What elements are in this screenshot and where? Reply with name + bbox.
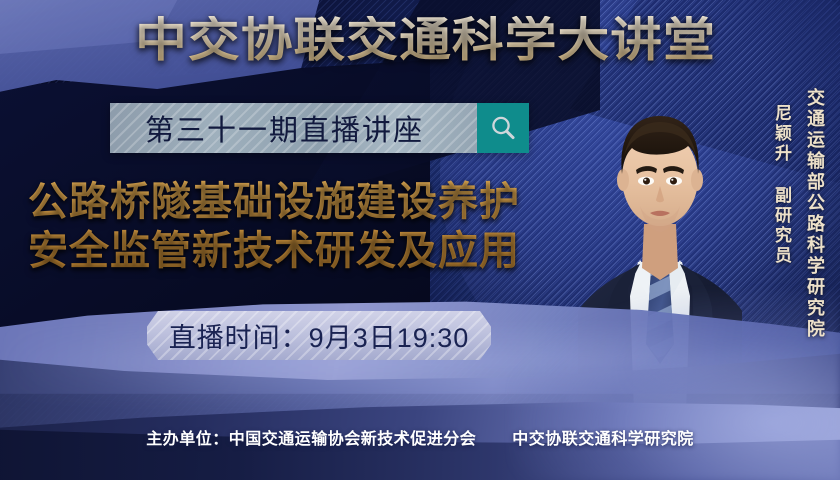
search-button[interactable]: [477, 103, 529, 153]
headline-line-2: 安全监管新技术研发及应用: [28, 227, 588, 276]
episode-banner-body: 第三十一期直播讲座: [110, 103, 477, 153]
live-lecture-poster: 中交协联交通科学大讲堂 第三十一期直播讲座 公路桥隧基础设施建设养护 安全监管新…: [0, 0, 840, 480]
broadcast-time-badge: 直播时间：9月3日19:30: [147, 311, 491, 360]
episode-banner: 第三十一期直播讲座: [110, 103, 529, 153]
speaker-organization: 交通运输部公路科学研究院: [802, 88, 828, 340]
lecture-headline: 公路桥隧基础设施建设养护 安全监管新技术研发及应用: [28, 178, 588, 276]
headline-line-1: 公路桥隧基础设施建设养护: [28, 178, 588, 227]
page-title: 中交协联交通科学大讲堂: [0, 16, 840, 63]
footer-institute: 中交协联交通科学研究院: [512, 431, 694, 448]
search-icon: [488, 113, 518, 143]
wave-right-glow: [510, 290, 840, 480]
broadcast-time-text: 直播时间：9月3日19:30: [169, 316, 470, 355]
episode-label: 第三十一期直播讲座: [145, 107, 442, 149]
speaker-name-title: 尼颖升 副研究员: [769, 104, 794, 266]
footer-organizers: 主办单位：中国交通运输协会新技术促进分会 中交协联交通科学研究院: [0, 425, 840, 449]
footer-organizer-label: 主办单位：中国交通运输协会新技术促进分会: [146, 431, 476, 448]
